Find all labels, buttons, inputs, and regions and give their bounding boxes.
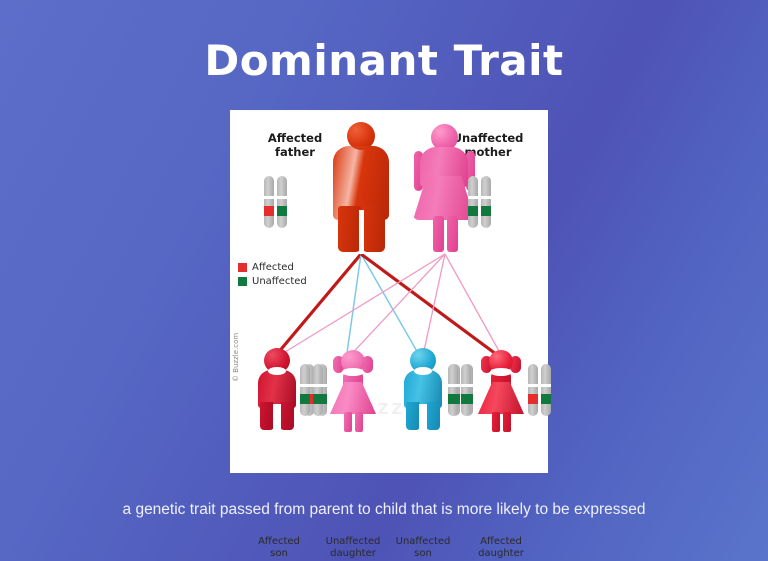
chromosome-2 xyxy=(461,364,471,416)
child-leg-left-icon xyxy=(344,412,352,432)
child-label-affected-daughter: Affected daughter xyxy=(464,536,538,560)
chromosome-pair-affected-daughter-left xyxy=(448,364,471,416)
child-leg-right-icon xyxy=(503,412,511,432)
centromere xyxy=(481,196,491,199)
centromere xyxy=(313,384,323,387)
chromosome-2 xyxy=(541,364,551,416)
child-leg-right-icon xyxy=(355,412,363,432)
chromosome-mother-1 xyxy=(468,176,478,228)
chromosome-pair-father xyxy=(264,176,287,228)
child-leg-left-icon xyxy=(492,412,500,432)
centromere xyxy=(277,196,287,199)
page-title: Dominant Trait xyxy=(0,36,768,85)
gene-band-affected xyxy=(528,394,538,404)
child-leg-left-icon xyxy=(406,402,420,430)
chromosome-mother-2 xyxy=(481,176,491,228)
legend-label-unaffected: Unaffected xyxy=(252,276,307,287)
legend-item-unaffected: Unaffected xyxy=(238,276,307,287)
centromere xyxy=(528,384,538,387)
chromosome-father-1 xyxy=(264,176,274,228)
chromosome-1 xyxy=(300,364,310,416)
child-leg-left-icon xyxy=(260,402,274,430)
centromere xyxy=(541,384,551,387)
child-dress-icon xyxy=(330,382,376,414)
chromosome-2 xyxy=(313,364,323,416)
slide-canvas: Dominant Trait Affected father Unaffecte… xyxy=(0,0,768,561)
parent-label-father: Affected father xyxy=(252,132,338,159)
figure-affected-daughter xyxy=(478,350,524,434)
gene-band-unaffected xyxy=(300,394,310,404)
child-collar xyxy=(490,368,512,376)
legend-item-affected: Affected xyxy=(238,262,307,273)
image-credit: © Buzzle.com xyxy=(232,333,240,382)
legend-swatch-affected xyxy=(238,263,247,272)
chromosome-father-2 xyxy=(277,176,287,228)
child-neck xyxy=(414,367,432,375)
gene-band-unaffected xyxy=(468,206,478,216)
centromere xyxy=(300,384,310,387)
gene-band-unaffected xyxy=(448,394,458,404)
child-leg-gap xyxy=(273,404,281,431)
genetics-diagram-panel: Affected father Unaffected mother xyxy=(230,110,548,473)
centromere xyxy=(461,384,471,387)
figure-affected-father xyxy=(330,122,392,252)
child-label-affected-son: Affected son xyxy=(242,536,316,560)
gene-band-unaffected xyxy=(277,206,287,216)
centromere xyxy=(448,384,458,387)
father-leg-gap xyxy=(359,210,364,254)
figure-unaffected-son xyxy=(400,348,446,432)
chromosome-pair-unaffected-daughter xyxy=(300,364,323,416)
mother-leg-right-icon xyxy=(447,216,458,252)
chromosome-pair-mother xyxy=(468,176,491,228)
chromosome-1 xyxy=(448,364,458,416)
gene-band-unaffected xyxy=(541,394,551,404)
child-collar xyxy=(342,368,364,376)
legend: Affected Unaffected xyxy=(238,262,307,290)
child-dress-icon xyxy=(478,382,524,414)
chromosome-1 xyxy=(528,364,538,416)
father-leg-right-icon xyxy=(362,206,385,252)
gene-band-affected xyxy=(264,206,274,216)
chromosome-pair-affected-daughter xyxy=(528,364,551,416)
slide-caption: a genetic trait passed from parent to ch… xyxy=(84,500,684,521)
figure-affected-son xyxy=(254,348,300,432)
father-leg-left-icon xyxy=(338,206,361,252)
legend-swatch-unaffected xyxy=(238,277,247,286)
child-neck xyxy=(268,367,286,375)
gene-band-unaffected xyxy=(481,206,491,216)
centromere xyxy=(264,196,274,199)
centromere xyxy=(468,196,478,199)
gene-band-unaffected xyxy=(461,394,471,404)
child-leg-right-icon xyxy=(426,402,440,430)
child-label-unaffected-son: Unaffected son xyxy=(386,536,460,560)
mother-leg-left-icon xyxy=(433,216,444,252)
figure-unaffected-daughter xyxy=(330,350,376,434)
gene-band-unaffected xyxy=(313,394,323,404)
child-leg-right-icon xyxy=(280,402,294,430)
child-leg-gap xyxy=(419,404,427,431)
child-label-unaffected-daughter: Unaffected daughter xyxy=(316,536,390,560)
legend-label-affected: Affected xyxy=(252,262,294,273)
